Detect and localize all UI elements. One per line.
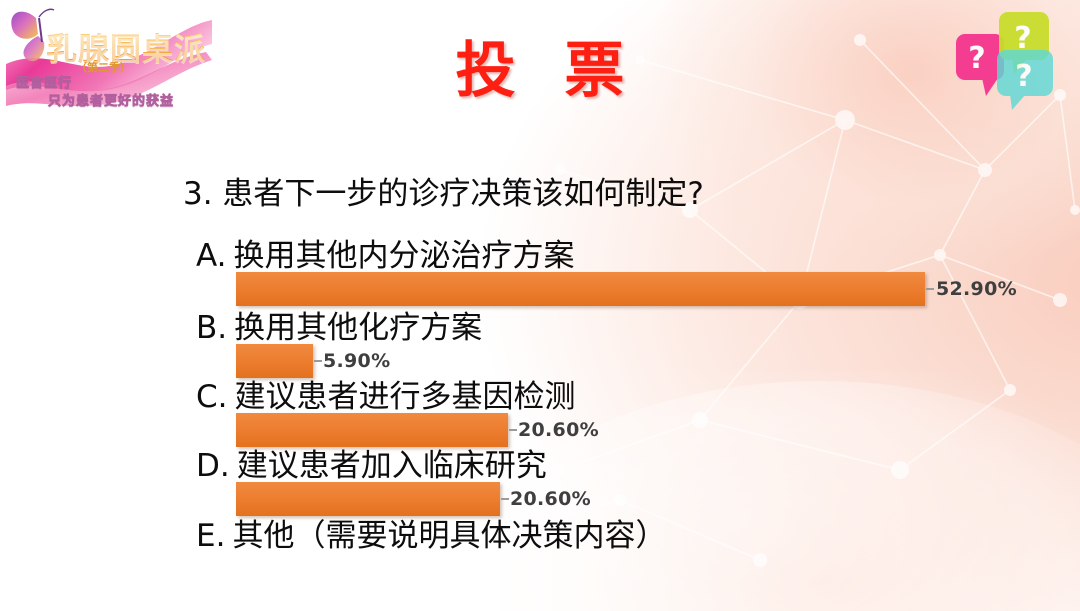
option-c-label: C.建议患者进行多基因检测 — [196, 371, 576, 416]
option-c-text: 建议患者进行多基因检测 — [235, 379, 576, 415]
option-b-letter: B. — [196, 310, 227, 346]
option-a-label: A.换用其他内分泌治疗方案 — [196, 230, 575, 275]
option-e-label: E.其他（需要说明具体决策内容） — [196, 510, 666, 555]
poll-slide: 乳腺圆桌派 （第二季） 医言医行 只为患者更好的获益 ? ? ? 投 票 3. … — [0, 0, 1080, 611]
option-d-label: D.建议患者加入临床研究 — [196, 440, 547, 485]
option-b-tick — [314, 360, 322, 362]
option-a-text: 换用其他内分泌治疗方案 — [234, 238, 575, 274]
option-a-percent: 52.90% — [936, 278, 1017, 300]
poll-question: 3. 患者下一步的诊疗决策该如何制定? — [183, 168, 704, 213]
option-a-tick — [926, 288, 934, 290]
option-d-text: 建议患者加入临床研究 — [237, 448, 547, 484]
option-a-letter: A. — [196, 238, 227, 274]
option-c-tick — [509, 429, 517, 431]
option-b-label: B.换用其他化疗方案 — [196, 302, 482, 347]
option-d-letter: D. — [196, 448, 230, 484]
option-b-text: 换用其他化疗方案 — [234, 310, 482, 346]
option-a-bar — [236, 272, 925, 306]
option-d-tick — [501, 498, 509, 500]
option-b-percent: 5.90% — [323, 350, 390, 372]
page-title: 投 票 — [0, 22, 1080, 109]
option-c-letter: C. — [196, 379, 228, 415]
option-c-percent: 20.60% — [518, 419, 599, 441]
option-d-percent: 20.60% — [510, 488, 591, 510]
option-e-letter: E. — [196, 518, 225, 554]
option-e-text: 其他（需要说明具体决策内容） — [232, 518, 666, 554]
